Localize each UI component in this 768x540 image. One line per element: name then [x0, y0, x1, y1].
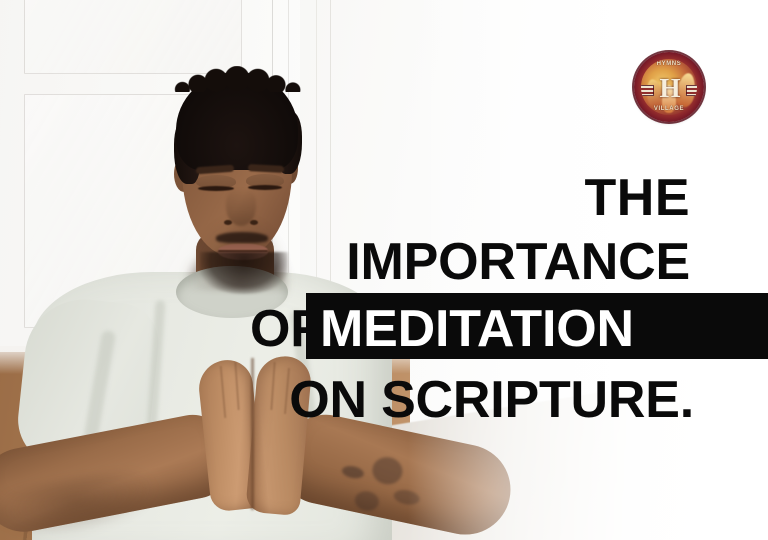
- closed-eye-left: [198, 186, 234, 191]
- logo-top-text: HYMNS: [641, 61, 697, 67]
- headline-line-4: ON SCRIPTURE.: [289, 374, 694, 426]
- nostril-right: [250, 220, 258, 225]
- hands-center-crease: [251, 358, 254, 510]
- logo-inner-disc: H HYMNS VILLAGE: [641, 59, 697, 115]
- logo-bottom-text: VILLAGE: [641, 106, 697, 112]
- poster-canvas: H HYMNS VILLAGE THE IMPORTANCE OF MEDITA…: [0, 0, 768, 540]
- headline-line-2: IMPORTANCE: [346, 236, 690, 288]
- mustache: [216, 232, 268, 243]
- logo-monogram: H: [659, 73, 681, 103]
- headline-line-1: THE: [585, 172, 691, 224]
- logo-side-bar-right: [686, 85, 697, 96]
- hair-afro: [176, 72, 298, 170]
- logo-side-bar-left: [641, 85, 654, 96]
- closed-eye-right: [248, 185, 282, 190]
- beard: [200, 252, 288, 294]
- headline-highlight-word: MEDITATION: [320, 303, 634, 355]
- nostril-left: [224, 220, 232, 225]
- brand-logo[interactable]: H HYMNS VILLAGE: [634, 52, 704, 122]
- headline-line-3-prefix: OF: [250, 303, 322, 355]
